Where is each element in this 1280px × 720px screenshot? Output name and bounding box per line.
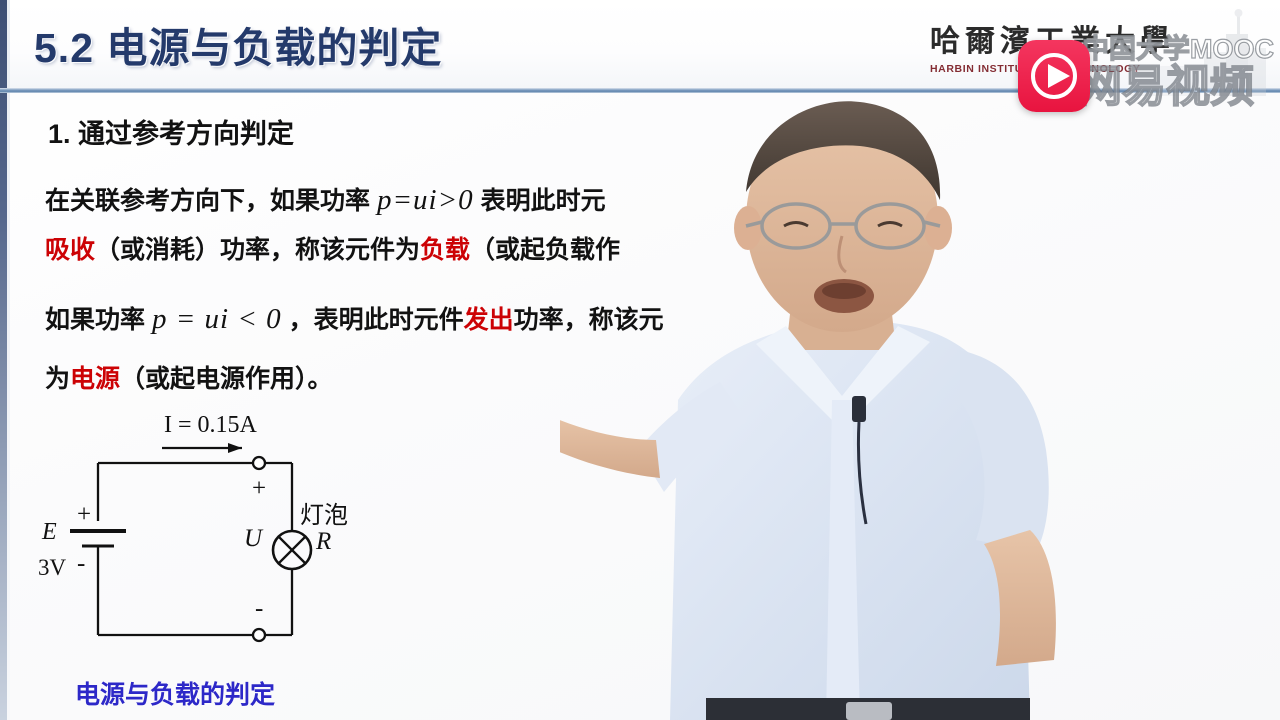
- emf-source-label: E: [42, 519, 57, 546]
- battery-positive-sign: +: [77, 501, 91, 529]
- lecturer-video-overlay: [560, 100, 1180, 720]
- slide-screenshot: 5.2 电源与负载的判定 哈爾濱工業大學 HARBIN INSTITUTE OF…: [0, 0, 1280, 720]
- keyword-source: 电源: [70, 365, 120, 393]
- paragraph-1-line-1: 在关联参考方向下，如果功率 p=ui>0 表明此时元: [45, 186, 606, 215]
- lamp-label: 灯泡: [300, 495, 348, 530]
- p2-text-b: ，表明此时元件: [289, 306, 464, 334]
- p1-text-a: 在关联参考方向下，如果功率: [45, 187, 370, 215]
- belt-buckle: [846, 702, 892, 720]
- source-voltage-value: 3V: [38, 555, 66, 581]
- page-title: 5.2 电源与负载的判定: [34, 14, 442, 74]
- resistance-label: R: [316, 528, 331, 556]
- left-edge-decoration: [0, 0, 7, 720]
- p2-text-d: 为: [45, 365, 70, 393]
- slide-caption: 电源与负载的判定: [75, 675, 275, 711]
- paragraph-2-line-2: 为电源（或起电源作用）。: [45, 367, 333, 392]
- terminal-positive-sign: +: [252, 475, 266, 503]
- formula-p-ui-gt-0: p=ui>0: [377, 184, 474, 216]
- terminal-voltage-label: U: [244, 525, 262, 553]
- p2-text-e: （或起电源作用）。: [120, 365, 333, 393]
- current-label: I = 0.15A: [164, 412, 257, 439]
- keyword-load: 负载: [420, 236, 470, 264]
- p1-text-c: （或消耗）功率，称该元件为: [95, 236, 420, 264]
- formula-p-ui-lt-0: p = ui < 0: [152, 303, 282, 335]
- terminal-negative-sign: -: [255, 595, 263, 623]
- circuit-diagram: I = 0.15A E 3V + - + - U R 灯泡: [30, 400, 410, 660]
- paragraph-1-line-2: 吸收（或消耗）功率，称该元件为负载（或起负载作: [45, 238, 620, 263]
- battery-negative-sign: -: [77, 550, 85, 578]
- keyword-absorb: 吸收: [45, 236, 95, 264]
- section-heading: 1. 通过参考方向判定: [48, 112, 294, 151]
- lecturer-pointing-arm: [560, 416, 660, 478]
- keyword-deliver: 发出: [464, 306, 514, 334]
- p2-text-a: 如果功率: [45, 306, 145, 334]
- circuit-schematic-svg: [30, 400, 410, 660]
- left-edge-inner-strip: [7, 0, 10, 720]
